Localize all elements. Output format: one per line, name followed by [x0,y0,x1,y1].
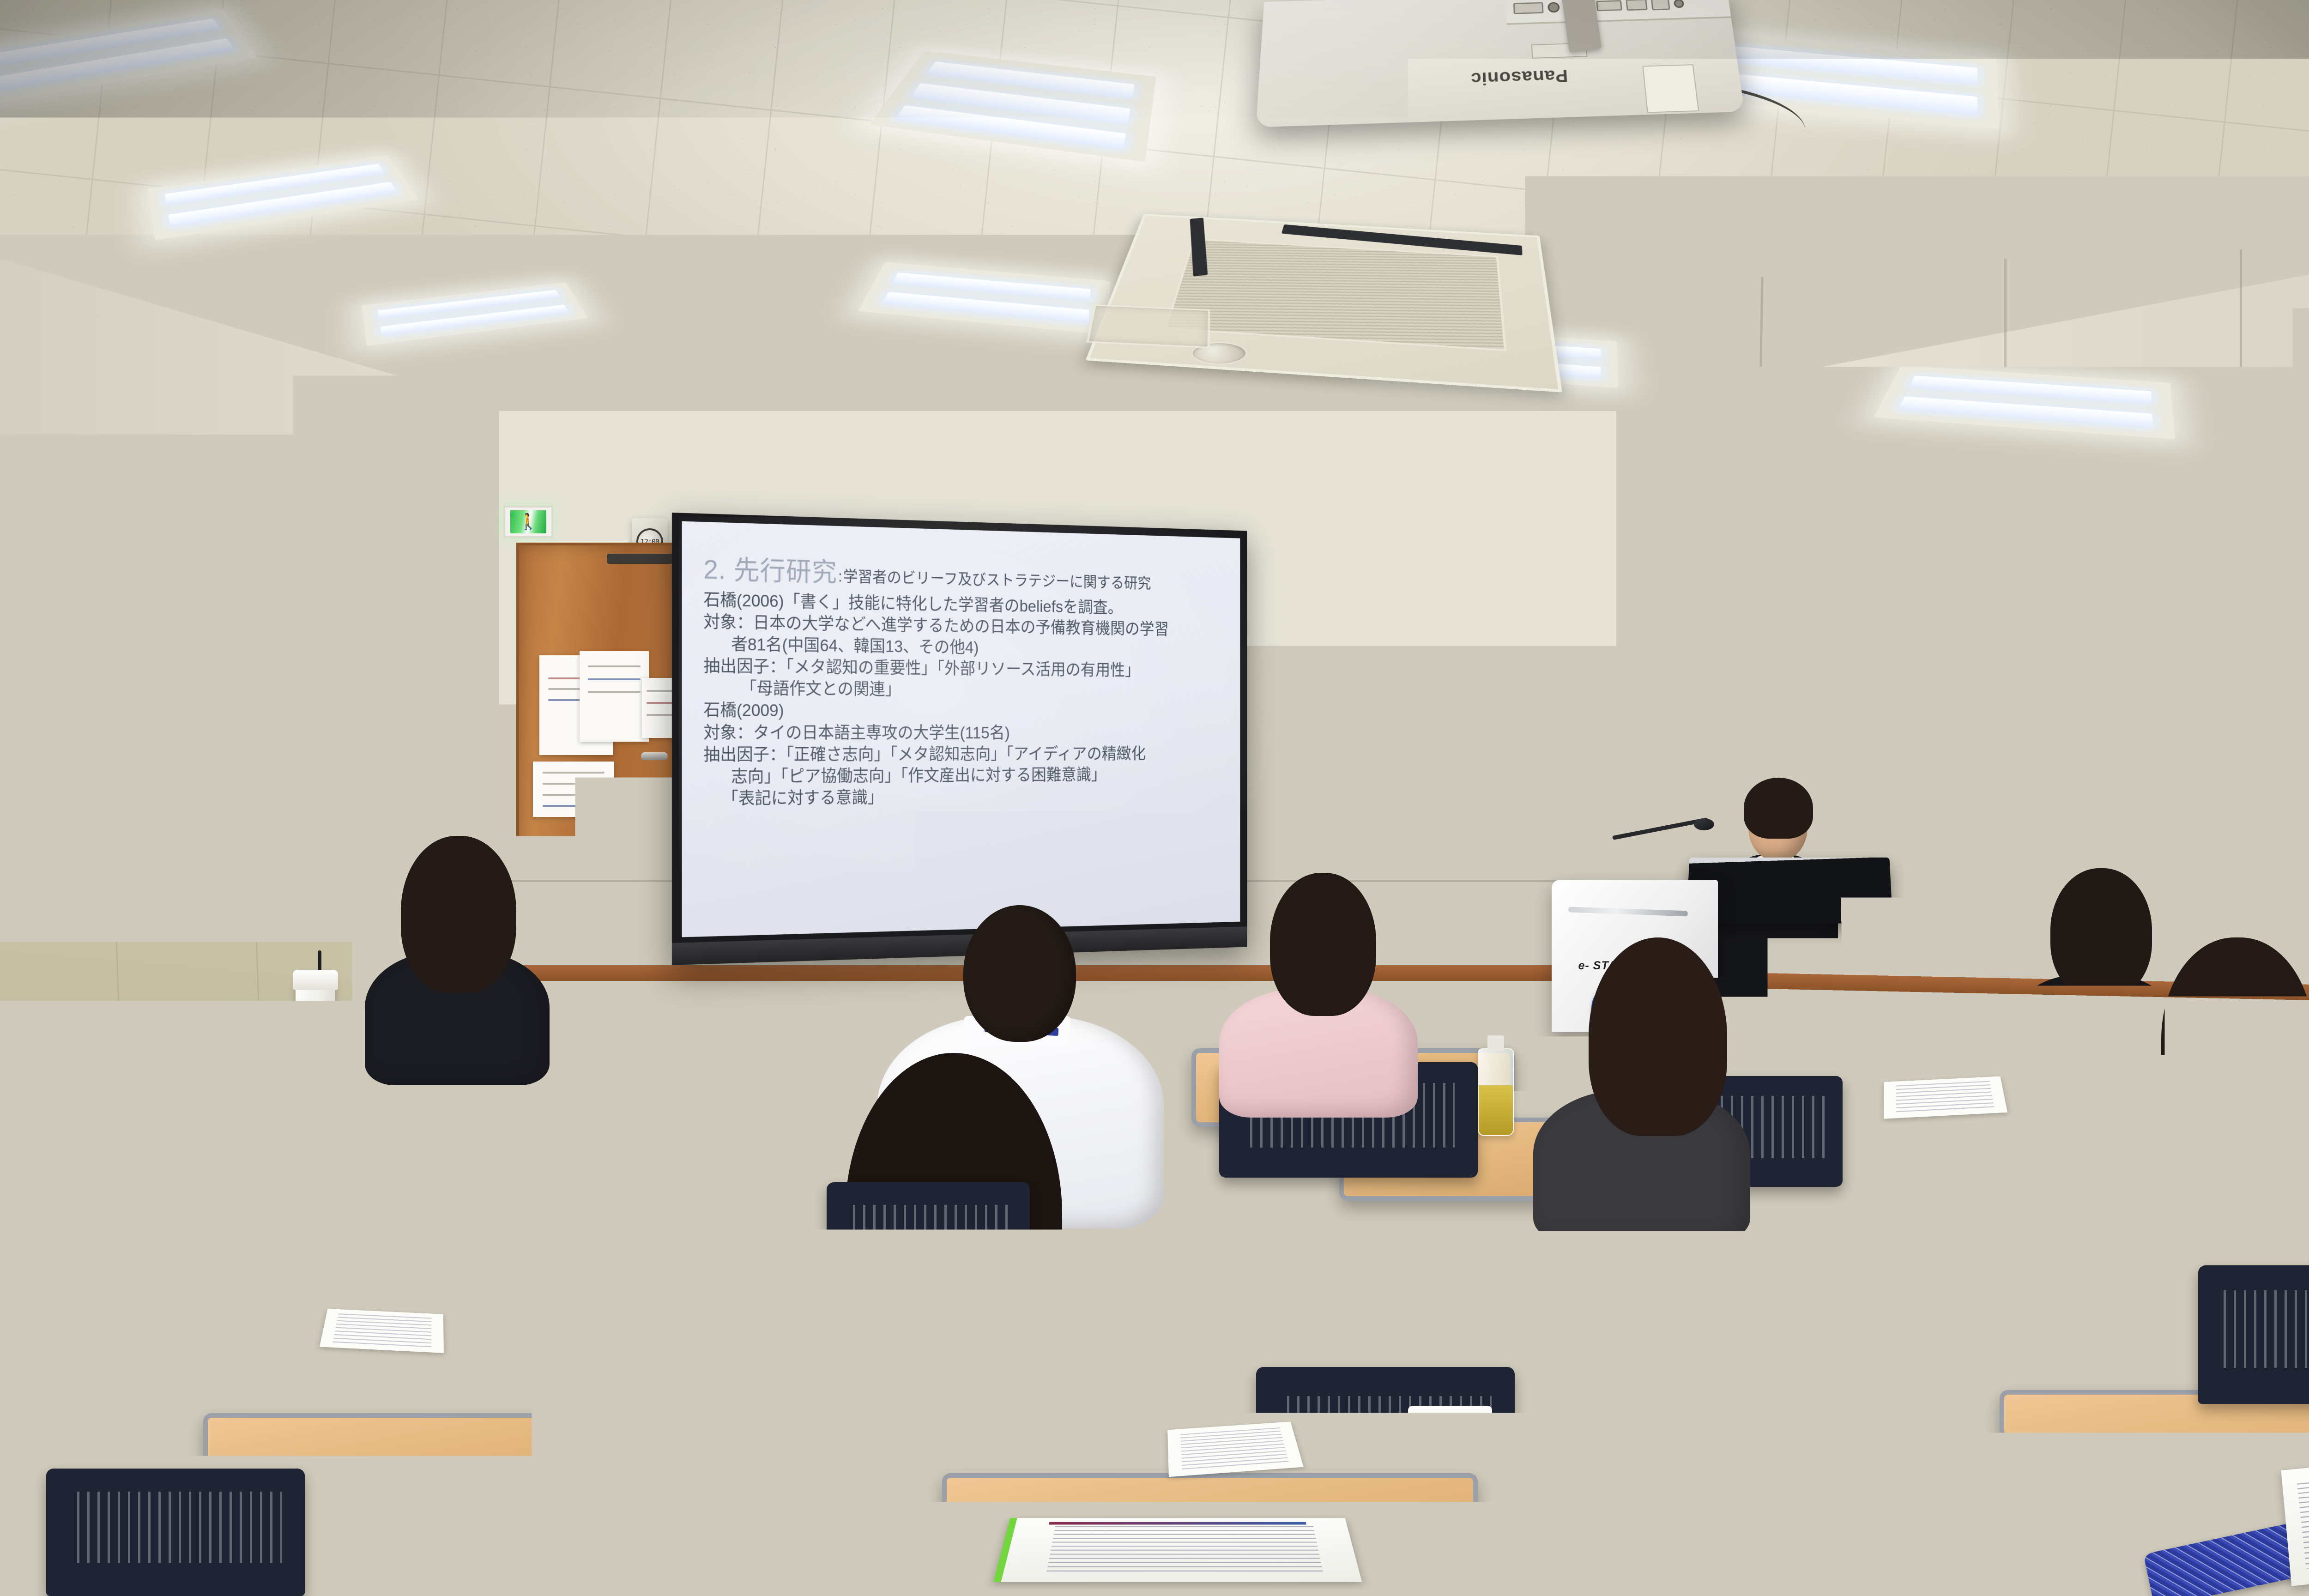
wall-panel-seam [2004,259,2007,997]
emergency-exit-sign: 🚶 [503,506,553,538]
audience-hair [2161,937,2309,1150]
audience-head [963,905,1076,1042]
whiteboard: * PC 비밀번호 SKU 123456 [1324,600,1600,859]
red-mug [2170,1168,2210,1201]
takeaway-coffee-cup [1413,1422,1487,1561]
slide-body-line: 対象：タイの日本語主専攻の大学生(115名) [703,722,1224,744]
green-notebook [285,1285,393,1329]
shoulder-bag [785,1330,905,1450]
classroom-chair [1838,1339,2078,1492]
running-man-icon: 🚶 [519,514,538,530]
door-closer-arm [607,554,676,564]
door-notice-paper [533,762,614,817]
slide-title-number: 2. 先行研究 [703,548,837,589]
audience-member [1219,873,1422,1113]
exit-sign-pictogram: 🚶 [510,510,546,533]
wall-notice-paper [580,651,649,742]
audience-hair [1270,873,1376,1016]
projector-spec-label [1643,64,1699,113]
slide-title-separator: : [838,568,842,586]
water-bottle [2203,1094,2235,1178]
audience-hair [1589,937,1727,1136]
presenter-hair [1744,778,1813,839]
ac-vane [1190,218,1208,276]
slide-title: 2. 先行研究 : 学習者のビリーフ及びストラテジーに関する研究 [703,548,1224,598]
audience-member [1533,937,1755,1242]
classroom-chair [827,1182,1030,1307]
student-desk [1709,1256,2078,1344]
audience-hair [0,1094,222,1238]
whiteboard-note-line-1: * PC 비밀번호 [1505,757,1560,771]
bottle-cap [1487,1035,1504,1051]
projection-screen-surface: 2. 先行研究 : 学習者のビリーフ及びストラテジーに関する研究 石橋(2006… [682,521,1240,937]
classroom-chair [46,1469,305,1596]
audience-member [365,836,559,1076]
ceiling-projector: Panasonic [1256,0,1744,127]
classroom-chair [499,1321,739,1473]
ceiling-access-hatch [1086,304,1210,348]
podium-trim-slot [1568,907,1688,916]
whiteboard-note-line-2: SKU 123456 [1513,773,1569,784]
papers-stack [1884,1076,2007,1119]
takeaway-coffee-cup [2134,1390,2207,1524]
door-handle[interactable] [641,752,668,760]
slide-title-subtitle: 学習者のビリーフ及びストラテジーに関する研究 [843,564,1151,592]
water-bottle [1478,1048,1514,1136]
bottle-contents [1479,1085,1513,1135]
slide-body-line: 志向」「ピア協働志向」「作文産出に対する困難意識」 [703,764,1224,788]
presentation-slide: 2. 先行研究 : 学習者のビリーフ及びストラテジーに関する研究 石橋(2006… [703,548,1224,882]
projector-io-panel [1505,0,1731,25]
ac-grille [1164,238,1507,351]
wall-panel-seam [2240,249,2242,997]
projector-brand-label: Panasonic [1470,66,1569,88]
slide-body-line: 「表記に対する意識」 [703,785,1224,810]
slide-body-line: 「母語作文との関連」 [703,677,1224,702]
classroom-chair [2198,1265,2309,1404]
slide-body-line: 抽出因子：「正確さ志向」「メタ認知志向」「アイディアの精緻化 [703,744,1224,766]
classroom-photo-scene: Panasonic 🚶 12:00 [0,0,2309,1596]
slide-body-line: 石橋(2009) [703,700,1224,723]
microphone-head [1694,818,1714,830]
audience-hair [401,836,516,993]
bottle-cap [2212,1082,2226,1097]
conference-program-booklet [993,1518,1362,1582]
